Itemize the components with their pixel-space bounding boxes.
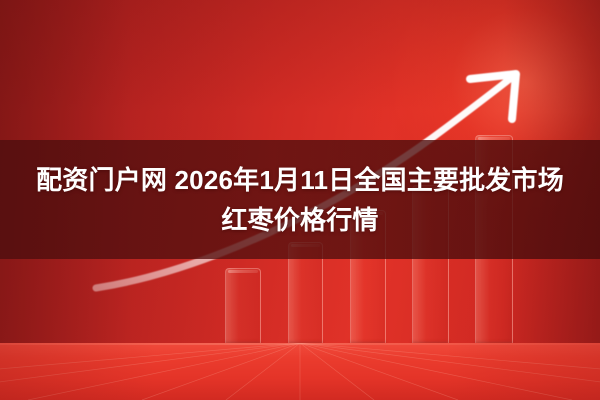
floor-shading xyxy=(0,343,600,400)
perspective-floor xyxy=(0,343,600,400)
title-line-2: 红枣价格行情 xyxy=(0,200,600,240)
chart-bar xyxy=(225,268,261,343)
chart-bar-highlight xyxy=(228,270,258,273)
floor-horizon-line xyxy=(0,343,600,345)
page-title: 配资门户网 2026年1月11日全国主要批发市场 红枣价格行情 xyxy=(0,160,600,240)
title-line-1: 配资门户网 2026年1月11日全国主要批发市场 xyxy=(0,160,600,200)
banner-image: 配资门户网 2026年1月11日全国主要批发市场 红枣价格行情 xyxy=(0,0,600,400)
